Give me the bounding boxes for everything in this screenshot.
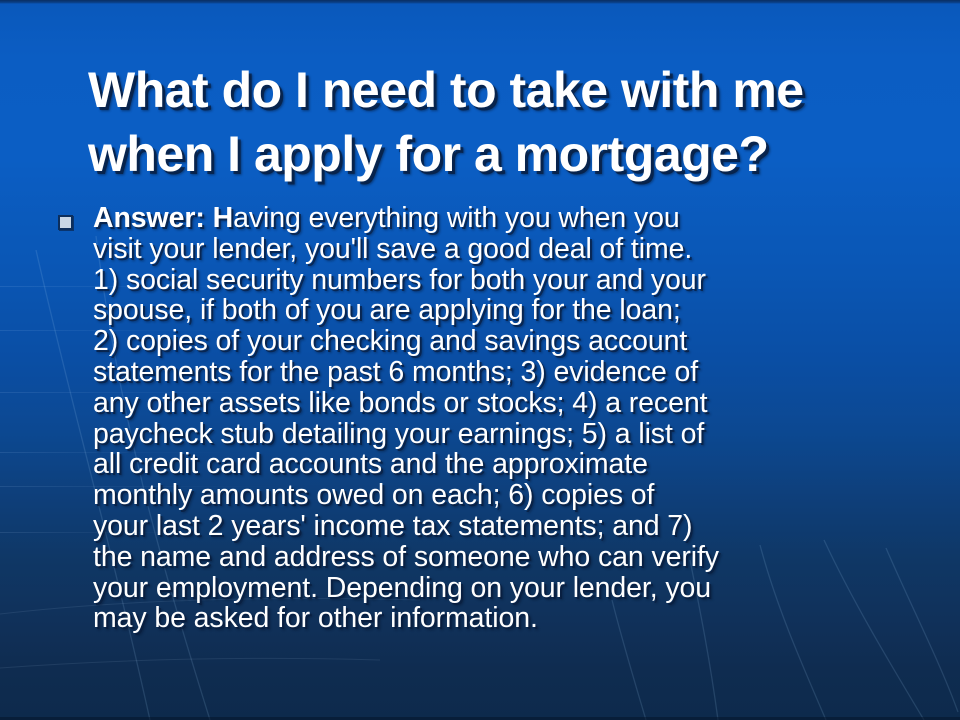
- top-edge-rule: [0, 0, 960, 4]
- body-line-14: may be asked for other information.: [93, 603, 938, 634]
- body-line-4: spouse, if both of you are applying for …: [93, 295, 938, 326]
- answer-body-text: Answer: Having everything with you when …: [93, 203, 938, 634]
- body-line-9: all credit card accounts and the approxi…: [93, 449, 938, 480]
- body-line-5: 2) copies of your checking and savings a…: [93, 326, 938, 357]
- body-line-2: visit your lender, you'll save a good de…: [93, 234, 938, 265]
- answer-drop-cap: H: [213, 202, 233, 234]
- slide-canvas: What do I need to take with me when I ap…: [0, 0, 960, 720]
- title-line-1: What do I need to take with me: [88, 58, 918, 122]
- page-title: What do I need to take with me when I ap…: [88, 58, 918, 186]
- square-bullet-icon: [58, 215, 73, 230]
- body-line-12: the name and address of someone who can …: [93, 542, 938, 573]
- body-line-6: statements for the past 6 months; 3) evi…: [93, 357, 938, 388]
- body-line-1: Answer: Having everything with you when …: [93, 203, 938, 234]
- body-line-13: your employment. Depending on your lende…: [93, 573, 938, 604]
- answer-label: Answer:: [93, 202, 205, 234]
- body-line-11: your last 2 years' income tax statements…: [93, 511, 938, 542]
- body-line-10: monthly amounts owed on each; 6) copies …: [93, 480, 938, 511]
- answer-bullet-item: Answer: Having everything with you when …: [58, 203, 938, 634]
- body-line-3: 1) social security numbers for both your…: [93, 265, 938, 296]
- body-line-8: paycheck stub detailing your earnings; 5…: [93, 419, 938, 450]
- title-line-2: when I apply for a mortgage?: [88, 122, 918, 186]
- body-line-7: any other assets like bonds or stocks; 4…: [93, 388, 938, 419]
- body-line-1-rest: aving everything with you when you: [233, 202, 680, 234]
